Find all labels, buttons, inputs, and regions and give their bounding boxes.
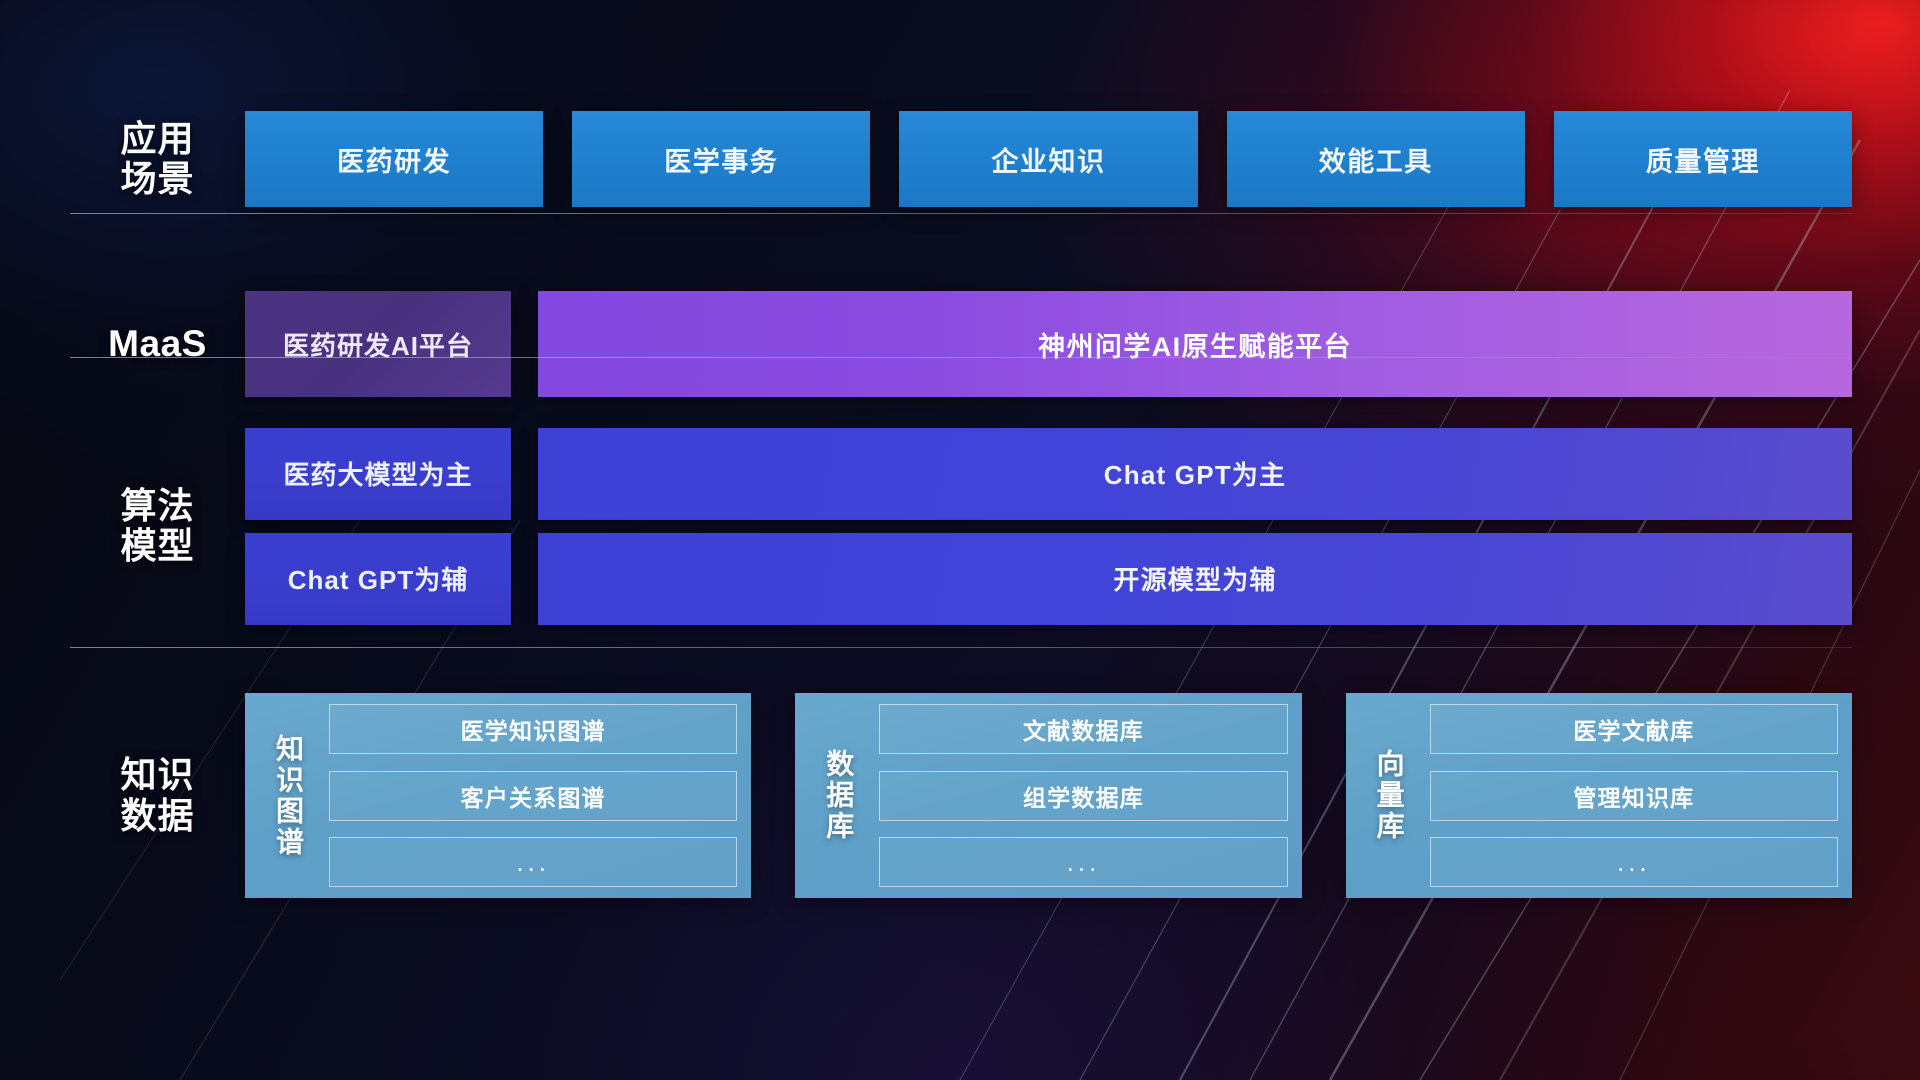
app-box-enterprise-knowledge[interactable]: 企业知识 bbox=[899, 111, 1197, 207]
architecture-diagram-canvas: 应用 场景 医药研发 医学事务 企业知识 效能工具 质量管理 MaaS 医药研发… bbox=[0, 0, 1920, 1080]
app-box-drug-rd[interactable]: 医药研发 bbox=[245, 111, 543, 207]
algo-box-chatgpt-secondary[interactable]: Chat GPT为辅 bbox=[245, 533, 511, 625]
row-label-maas: MaaS bbox=[70, 323, 245, 364]
knowledge-group-database: 数据库 文献数据库 组学数据库 ... bbox=[795, 693, 1301, 898]
knowledge-item-more-database[interactable]: ... bbox=[879, 837, 1287, 887]
algo-line-secondary: Chat GPT为辅 开源模型为辅 bbox=[245, 533, 1852, 625]
knowledge-items-knowledge-graph: 医学知识图谱 客户关系图谱 ... bbox=[319, 704, 737, 887]
knowledge-groups: 知识图谱 医学知识图谱 客户关系图谱 ... 数据库 文献数据库 组学数据库 .… bbox=[245, 693, 1852, 898]
row-label-application-scenarios: 应用 场景 bbox=[70, 119, 245, 200]
app-box-efficiency-tools[interactable]: 效能工具 bbox=[1227, 111, 1525, 207]
divider-apps-maas bbox=[70, 213, 1852, 214]
knowledge-item-more-vector-store[interactable]: ... bbox=[1430, 837, 1838, 887]
knowledge-item-more-knowledge-graph[interactable]: ... bbox=[329, 837, 737, 887]
knowledge-group-title-vector-store: 向量库 bbox=[1358, 704, 1420, 887]
divider-algo-knowledge bbox=[70, 647, 1852, 648]
knowledge-group-knowledge-graph: 知识图谱 医学知识图谱 客户关系图谱 ... bbox=[245, 693, 751, 898]
knowledge-group-title-knowledge-graph: 知识图谱 bbox=[257, 704, 319, 887]
application-scenario-boxes: 医药研发 医学事务 企业知识 效能工具 质量管理 bbox=[245, 111, 1852, 207]
knowledge-items-vector-store: 医学文献库 管理知识库 ... bbox=[1420, 704, 1838, 887]
app-box-quality-management[interactable]: 质量管理 bbox=[1554, 111, 1852, 207]
algo-box-opensource-secondary[interactable]: 开源模型为辅 bbox=[538, 533, 1852, 625]
knowledge-group-title-database: 数据库 bbox=[807, 704, 869, 887]
row-knowledge-data: 知识 数据 知识图谱 医学知识图谱 客户关系图谱 ... 数据库 文献数据库 组… bbox=[70, 693, 1852, 898]
row-application-scenarios: 应用 场景 医药研发 医学事务 企业知识 效能工具 质量管理 bbox=[70, 111, 1852, 207]
maas-boxes: 医药研发AI平台 神州问学AI原生赋能平台 bbox=[245, 291, 1852, 397]
divider-maas-algo bbox=[70, 357, 1852, 358]
row-algorithm-models: 算法 模型 医药大模型为主 Chat GPT为主 Chat GPT为辅 开源模型… bbox=[70, 421, 1852, 631]
row-maas: MaaS 医药研发AI平台 神州问学AI原生赋能平台 bbox=[70, 291, 1852, 397]
row-label-knowledge-data: 知识 数据 bbox=[70, 755, 245, 836]
knowledge-item-literature-database[interactable]: 文献数据库 bbox=[879, 704, 1287, 754]
knowledge-item-customer-relation-graph[interactable]: 客户关系图谱 bbox=[329, 771, 737, 821]
knowledge-item-management-knowledge-store[interactable]: 管理知识库 bbox=[1430, 771, 1838, 821]
app-box-medical-affairs[interactable]: 医学事务 bbox=[572, 111, 870, 207]
knowledge-item-medical-knowledge-graph[interactable]: 医学知识图谱 bbox=[329, 704, 737, 754]
knowledge-group-vector-store: 向量库 医学文献库 管理知识库 ... bbox=[1346, 693, 1852, 898]
algorithm-model-boxes: 医药大模型为主 Chat GPT为主 Chat GPT为辅 开源模型为辅 bbox=[245, 428, 1852, 625]
algo-box-chatgpt-primary[interactable]: Chat GPT为主 bbox=[538, 428, 1852, 520]
knowledge-item-omics-database[interactable]: 组学数据库 bbox=[879, 771, 1287, 821]
algo-box-drug-large-model-primary[interactable]: 医药大模型为主 bbox=[245, 428, 511, 520]
row-label-algorithm-models: 算法 模型 bbox=[70, 486, 245, 567]
diagram-grid: 应用 场景 医药研发 医学事务 企业知识 效能工具 质量管理 MaaS 医药研发… bbox=[0, 0, 1920, 1080]
knowledge-items-database: 文献数据库 组学数据库 ... bbox=[869, 704, 1287, 887]
knowledge-item-medical-literature-store[interactable]: 医学文献库 bbox=[1430, 704, 1838, 754]
algo-line-primary: 医药大模型为主 Chat GPT为主 bbox=[245, 428, 1852, 520]
maas-box-shenzhou-wenxue-platform[interactable]: 神州问学AI原生赋能平台 bbox=[538, 291, 1852, 397]
maas-box-drug-rd-ai-platform[interactable]: 医药研发AI平台 bbox=[245, 291, 511, 397]
